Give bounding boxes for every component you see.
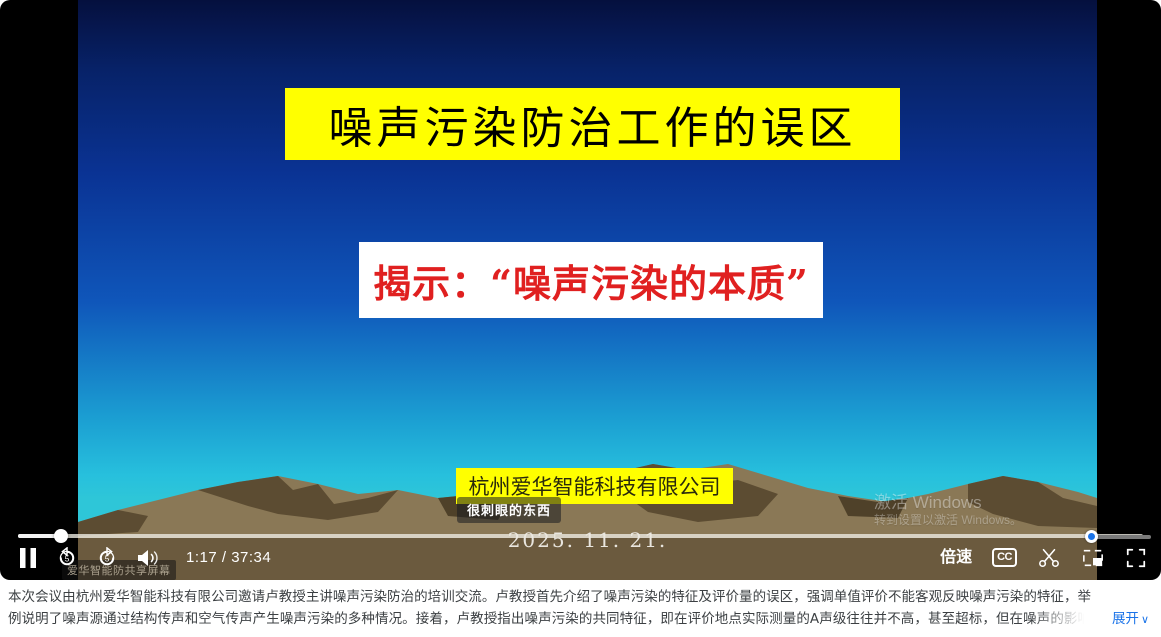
pause-icon	[18, 547, 38, 569]
volume-button[interactable]	[136, 547, 160, 569]
chevron-down-icon: ∨	[1141, 614, 1149, 626]
player-controls-left: 5 5 1:17 / 37:34	[0, 547, 271, 569]
slide-title-box: 噪声污染防治工作的误区	[285, 88, 900, 160]
expand-label: 展开	[1112, 611, 1139, 626]
svg-text:5: 5	[65, 554, 70, 563]
playback-speed-button[interactable]: 倍速	[940, 550, 972, 566]
player-controls[interactable]: 5 5 1:17 / 37:34 倍速 C	[0, 535, 1161, 580]
danmaku-comment: 很刺眼的东西	[457, 497, 561, 523]
pause-button[interactable]	[18, 547, 38, 569]
slide-subtitle-box: 揭示：“噪声污染的本质”	[359, 242, 823, 318]
video-frame[interactable]: 噪声污染防治工作的误区 揭示：“噪声污染的本质” 杭州爱华智能科技有限公司 20…	[78, 0, 1097, 580]
description-text: 本次会议由杭州爱华智能科技有限公司邀请卢教授主讲噪声污染防治的培训交流。卢教授首…	[8, 586, 1153, 630]
picture-in-picture-icon	[1081, 547, 1105, 569]
rewind-5-button[interactable]: 5	[56, 547, 78, 569]
time-display: 1:17 / 37:34	[186, 549, 271, 566]
slide-title: 噪声污染防治工作的误区	[329, 92, 857, 156]
expand-description-button[interactable]: 展开∨	[1112, 608, 1149, 631]
player-controls-right: 倍速 CC	[940, 547, 1161, 569]
fullscreen-icon	[1125, 547, 1147, 569]
clip-button[interactable]	[1037, 547, 1061, 569]
forward-5-button[interactable]: 5	[96, 547, 118, 569]
volume-slider[interactable]	[1085, 531, 1151, 543]
forward-5-icon: 5	[96, 547, 118, 569]
video-description: 本次会议由杭州爱华智能科技有限公司邀请卢教授主讲噪声污染防治的培训交流。卢教授首…	[0, 586, 1161, 637]
volume-slider-handle[interactable]	[1085, 530, 1098, 543]
svg-text:5: 5	[105, 554, 110, 563]
picture-in-picture-button[interactable]	[1081, 547, 1105, 569]
video-player[interactable]: 噪声污染防治工作的误区 揭示：“噪声污染的本质” 杭州爱华智能科技有限公司 20…	[0, 0, 1161, 580]
fullscreen-button[interactable]	[1125, 547, 1147, 569]
scissors-icon	[1037, 547, 1061, 569]
slide-subtitle: 揭示：“噪声污染的本质”	[373, 253, 809, 308]
captions-button[interactable]: CC	[992, 548, 1017, 566]
replay-5-icon: 5	[56, 547, 78, 569]
volume-on-icon	[136, 547, 160, 569]
